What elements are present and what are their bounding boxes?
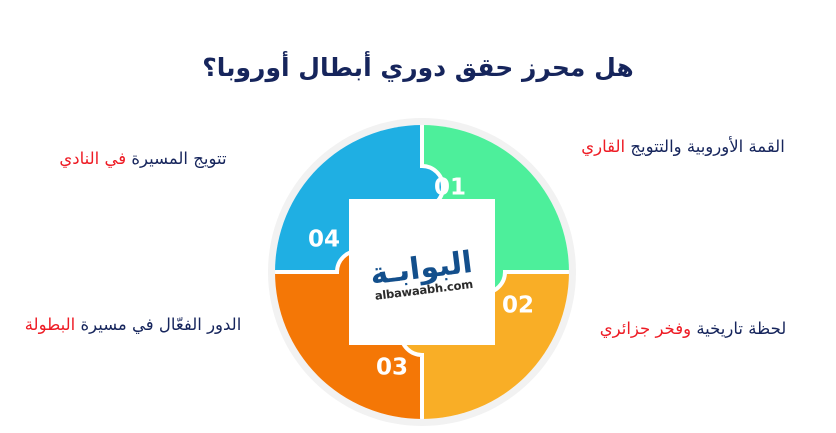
piece-number-02: 02 (502, 293, 534, 319)
callout-01-accent: القاري (581, 137, 625, 156)
infographic-canvas: هل محرز حقق دوري أبطال أوروبا؟ (0, 0, 836, 433)
callout-02-accent: وفخر جزائري (600, 319, 691, 338)
callout-03-accent: البطولة (25, 315, 76, 334)
callout-label-04: تتويج المسيرة في النادي (8, 148, 278, 170)
piece-number-03: 03 (376, 355, 408, 381)
callout-03-primary: الدور الفعّال في مسيرة (80, 315, 241, 334)
callout-label-02: لحظة تاريخية وفخر جزائري (558, 318, 828, 340)
piece-number-01: 01 (434, 175, 466, 201)
callout-02-primary: لحظة تاريخية (696, 319, 786, 338)
page-title: هل محرز حقق دوري أبطال أوروبا؟ (0, 52, 836, 83)
callout-label-03: الدور الفعّال في مسيرة البطولة (8, 314, 258, 336)
callout-04-accent: في النادي (59, 149, 126, 168)
wheel-center-plate (349, 199, 495, 345)
puzzle-wheel: 01 02 03 04 (268, 118, 576, 426)
callout-01-primary: القمة الأوروبية والتتويج (630, 137, 784, 156)
callout-label-01: القمة الأوروبية والتتويج القاري (538, 136, 828, 158)
piece-number-04: 04 (308, 227, 340, 253)
callout-04-primary: تتويج المسيرة (131, 149, 226, 168)
